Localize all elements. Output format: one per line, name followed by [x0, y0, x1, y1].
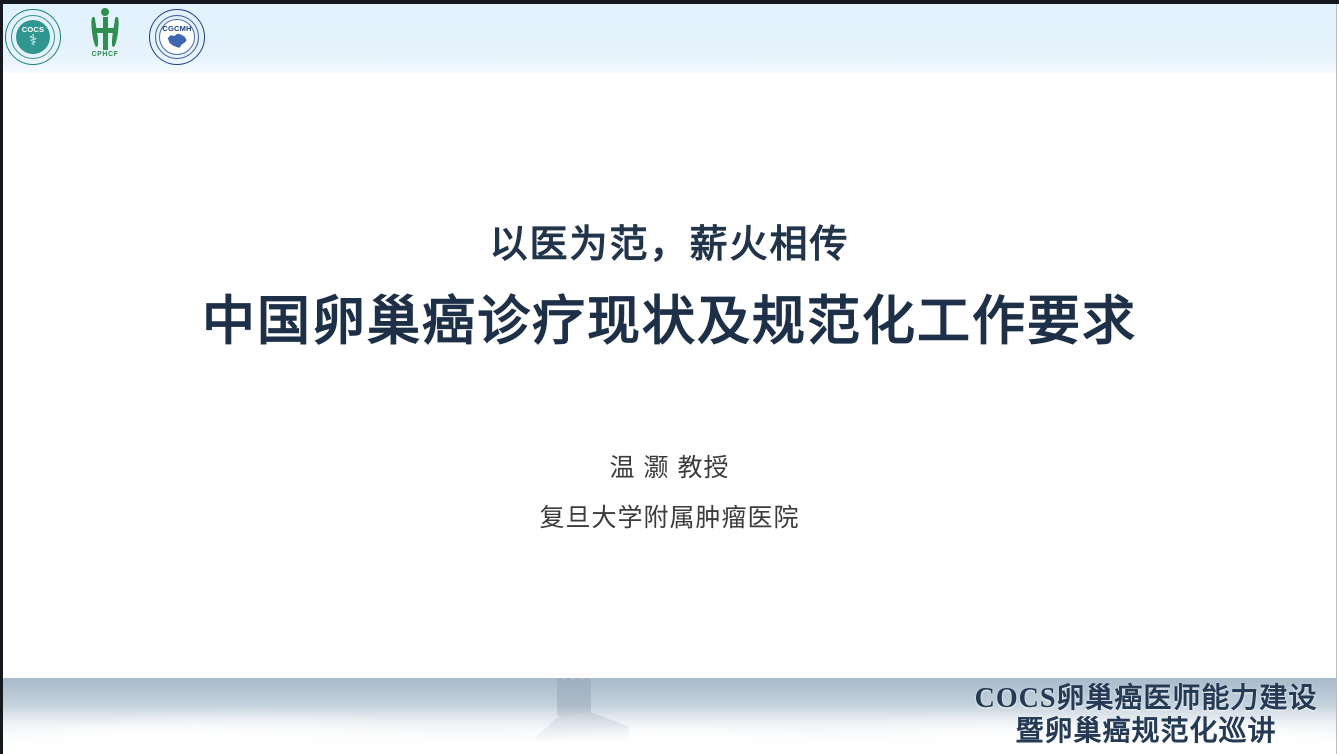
cocs-logo: COCS ⚕: [5, 9, 61, 65]
cgcmh-logo-abbr: CGCMH: [162, 25, 191, 33]
slide-kicker: 以医为范，薪火相传: [3, 213, 1336, 268]
cphcf-logo: CPHCF: [79, 8, 131, 66]
slide-body: 以医为范，薪火相传 中国卵巢癌诊疗现状及规范化工作要求 温 灏 教授 复旦大学附…: [3, 73, 1336, 678]
slide-left-border: [0, 0, 3, 754]
cgcmh-logo: CGCMH: [149, 9, 205, 65]
presentation-slide: COCS ⚕ CPHCF CGCMH 以医为范，薪火: [0, 0, 1339, 754]
event-title-line-1: COCS卵巢癌医师能力建设: [961, 682, 1331, 715]
cphcf-stem-shape: [103, 17, 108, 50]
slide-title: 中国卵巢癌诊疗现状及规范化工作要求: [3, 279, 1336, 355]
event-title-lockup: COCS卵巢癌医师能力建设 暨卵巢癌规范化巡讲: [961, 682, 1331, 748]
cphcf-crossbar-shape: [92, 28, 118, 33]
slide-right-border: [1336, 4, 1337, 754]
cgcmh-logo-core: CGCMH: [159, 19, 195, 55]
china-map-icon: [167, 32, 188, 49]
cocs-logo-core: COCS ⚕: [16, 20, 50, 54]
event-title-line-2: 暨卵巢癌规范化巡讲: [961, 715, 1331, 748]
cphcf-head-shape: [101, 8, 109, 16]
speaker-name: 温 灏 教授: [3, 448, 1336, 484]
slide-top-border: [0, 0, 1339, 4]
organizer-logo-strip: COCS ⚕ CPHCF CGCMH: [5, 6, 205, 68]
cphcf-figure-icon: [85, 8, 125, 50]
speaker-organization: 复旦大学附属肿瘤医院: [3, 498, 1336, 534]
caduceus-icon: ⚕: [29, 33, 37, 48]
cphcf-logo-abbr: CPHCF: [91, 51, 118, 58]
